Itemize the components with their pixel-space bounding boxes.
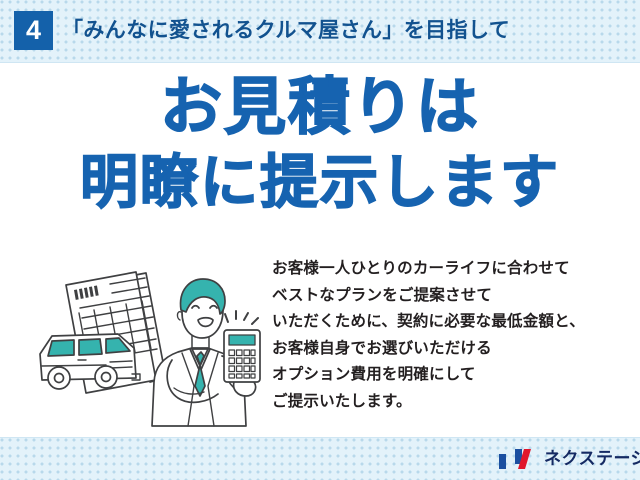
body-line: いただくために、契約に必要な最低金額と、 — [272, 309, 632, 336]
body-line: オプション費用を明確にして — [272, 362, 632, 389]
nextstage-logo: ネクステージ — [497, 446, 640, 472]
sparkle-icon — [225, 311, 258, 324]
headline-block: お見積りは 明瞭に提示します — [0, 76, 640, 212]
body-line: ご提示いたします。 — [272, 389, 632, 416]
nextstage-logo-mark — [497, 447, 537, 471]
nextstage-logo-text: ネクステージ — [544, 447, 640, 471]
body-line: お客様一人ひとりのカーライフに合わせて — [272, 256, 632, 283]
promo-banner: 4 「みんなに愛されるクルマ屋さん」を目指して お見積りは 明瞭に提示します お… — [0, 0, 640, 480]
body-line: お客様自身でお選びいただける — [272, 336, 632, 363]
body-paragraph: お客様一人ひとりのカーライフに合わせて ベストなプランをご提案させて いただくた… — [272, 256, 632, 415]
body-line: ベストなプランをご提案させて — [272, 283, 632, 310]
headline-line-1: お見積りは — [0, 76, 640, 139]
header-title: 「みんなに愛されるクルマ屋さん」を目指して — [62, 16, 510, 46]
headline-line-2: 明瞭に提示します — [0, 153, 640, 212]
illustration-salesman-with-estimate — [22, 256, 270, 428]
step-number-badge: 4 — [14, 11, 53, 50]
calculator — [224, 330, 260, 382]
